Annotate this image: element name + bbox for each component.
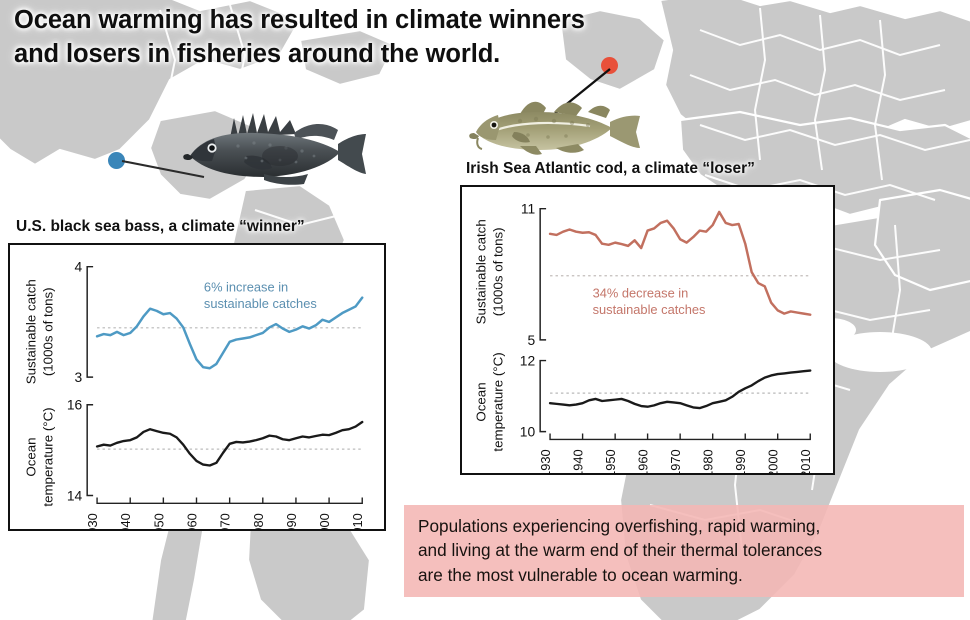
x-axis-tick-label: 1990 (284, 513, 299, 529)
note-line-2: and living at the warm end of their ther… (418, 538, 950, 562)
x-axis-tick-label: 1930 (538, 449, 553, 473)
svg-text:Sustainable catch: Sustainable catch (24, 279, 39, 384)
cod-temp-subplot: Ocean temperature (°C) 12 10 19301940195… (474, 352, 814, 473)
svg-text:14: 14 (67, 487, 83, 503)
page-title: Ocean warming has resulted in climate wi… (14, 4, 654, 72)
x-axis-tick-label: 1930 (85, 513, 100, 529)
svg-text:Ocean: Ocean (24, 437, 39, 476)
x-axis-tick-label: 1940 (571, 449, 586, 473)
x-axis-tick-label: 1970 (668, 449, 683, 473)
chart-caption-bass: U.S. black sea bass, a climate “winner” (16, 218, 305, 236)
bass-catch-subplot: Sustainable catch (1000s of tons) 4 3 6%… (24, 259, 363, 385)
cod-catch-subplot: Sustainable catch (1000s of tons) 11 5 3… (474, 201, 811, 348)
bass-annotation-line1: 6% increase in (204, 279, 288, 294)
cod-annotation-line2: sustainable catches (593, 302, 706, 317)
svg-text:(1000s of tons): (1000s of tons) (491, 227, 506, 316)
svg-text:12: 12 (520, 353, 535, 369)
x-axis-tick-label: 1990 (733, 449, 748, 473)
title-line-1: Ocean warming has resulted in climate wi… (14, 4, 654, 38)
x-axis-tick-label: 1980 (251, 513, 266, 529)
bass-annotation-line2: sustainable catches (204, 296, 317, 311)
svg-text:temperature (°C): temperature (°C) (491, 352, 506, 451)
svg-text:11: 11 (521, 201, 535, 217)
svg-text:(1000s of tons): (1000s of tons) (41, 287, 56, 376)
bass-temp-subplot: Ocean temperature (°C) 16 14 19301940195… (24, 397, 366, 529)
cod-annotation-line1: 34% decrease in (593, 285, 689, 300)
x-axis-tick-label: 1960 (636, 449, 651, 473)
atlantic-cod-illustration (462, 88, 642, 164)
black-sea-bass-illustration (168, 104, 368, 196)
svg-text:temperature (°C): temperature (°C) (41, 407, 56, 506)
svg-text:3: 3 (75, 369, 83, 385)
x-axis-tick-label: 1980 (701, 449, 716, 473)
svg-text:5: 5 (528, 332, 536, 348)
x-axis-tick-label: 1970 (218, 513, 233, 529)
x-axis-tick-label: 1950 (603, 449, 618, 473)
x-axis-tick-label: 2010 (350, 513, 365, 529)
svg-text:Ocean: Ocean (474, 382, 489, 421)
infographic-root: Ocean warming has resulted in climate wi… (0, 0, 970, 620)
x-axis-tick-label: 2000 (317, 513, 332, 529)
chart-panel-bass: Sustainable catch (1000s of tons) 4 3 6%… (8, 243, 386, 531)
chart-caption-cod: Irish Sea Atlantic cod, a climate “loser… (466, 160, 755, 178)
chart-panel-cod: Sustainable catch (1000s of tons) 11 5 3… (460, 185, 835, 475)
x-axis-tick-label: 1950 (151, 513, 166, 529)
note-line-3: are the most vulnerable to ocean warming… (418, 563, 950, 587)
svg-text:Sustainable catch: Sustainable catch (474, 219, 489, 324)
x-axis-tick-label: 2000 (766, 449, 781, 473)
x-axis-tick-label: 1940 (118, 513, 133, 529)
x-axis-tick-label: 2010 (798, 449, 813, 473)
svg-text:4: 4 (75, 259, 83, 275)
note-line-1: Populations experiencing overfishing, ra… (418, 514, 950, 538)
summary-note: Populations experiencing overfishing, ra… (404, 505, 964, 597)
x-axis-tick-label: 1960 (184, 513, 199, 529)
svg-text:16: 16 (67, 397, 83, 413)
svg-text:10: 10 (520, 424, 536, 440)
